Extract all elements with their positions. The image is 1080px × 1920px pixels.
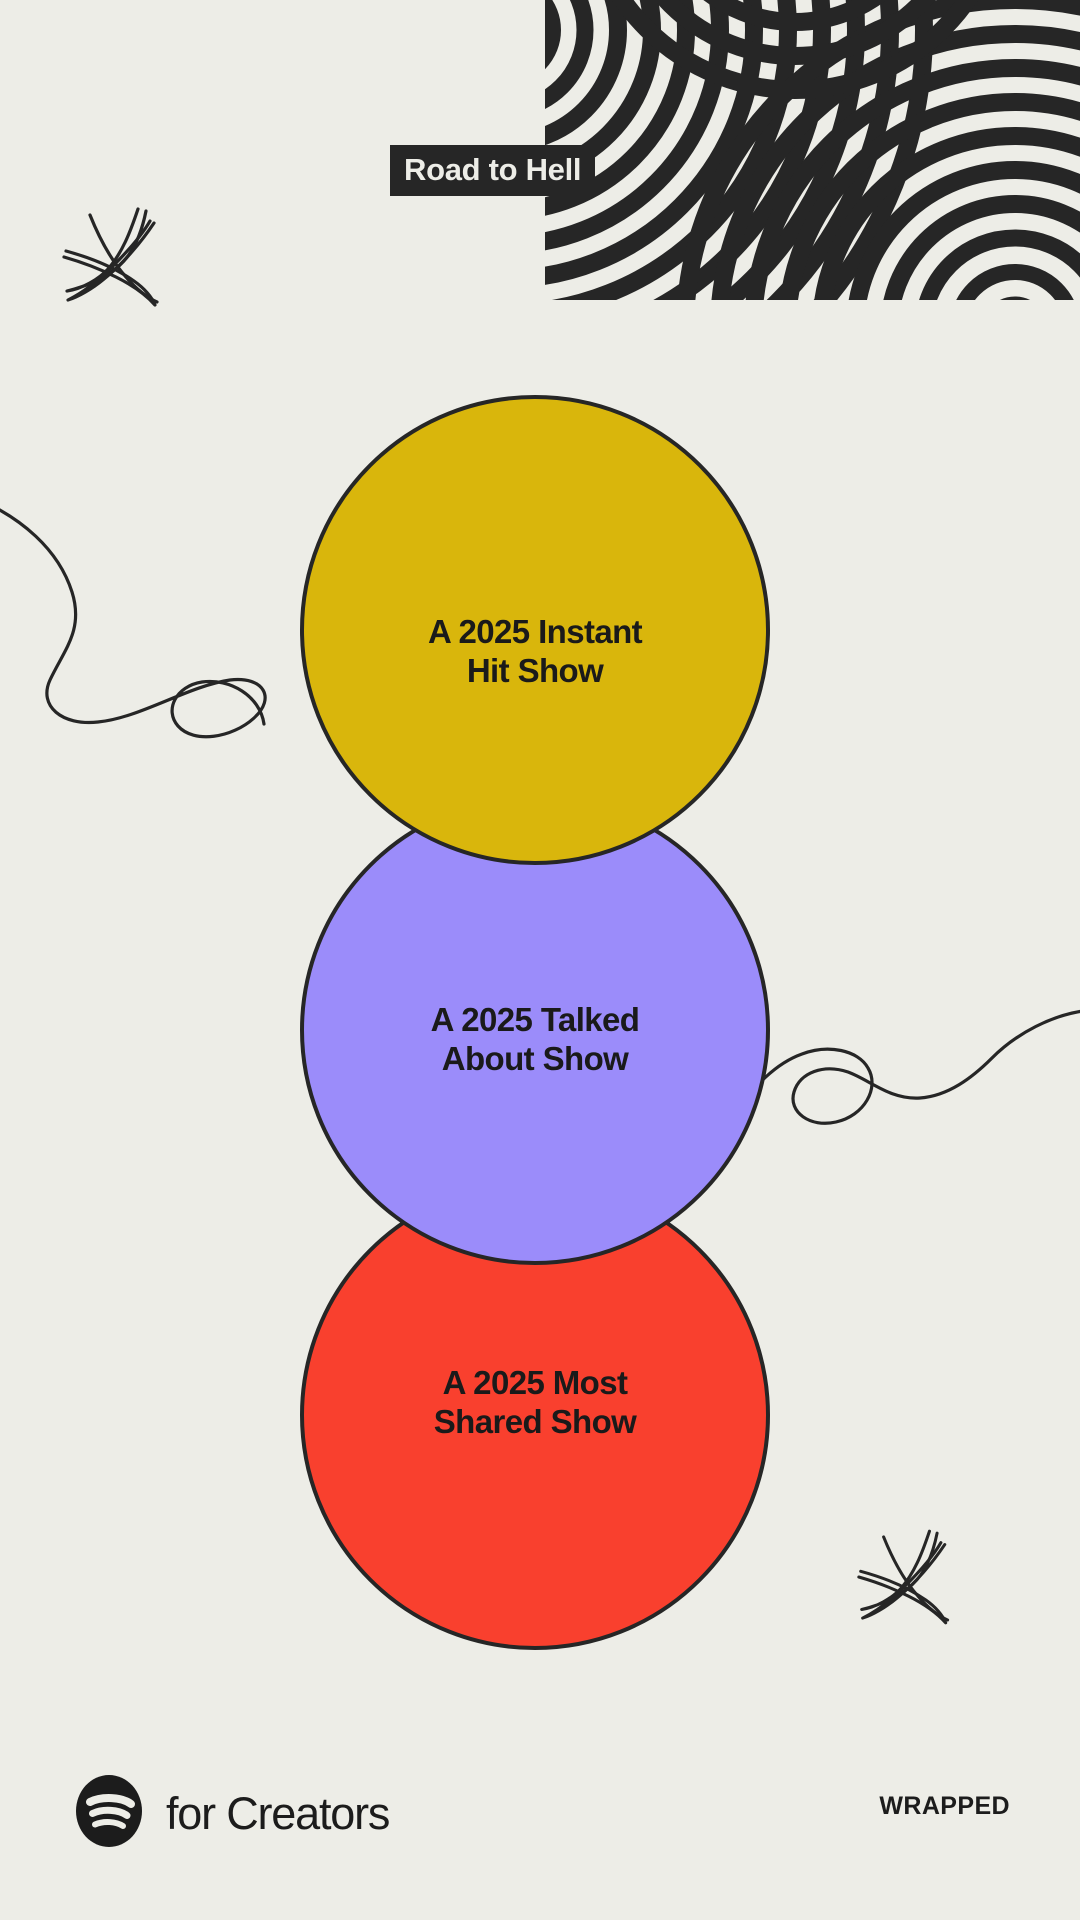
footer: for Creators WRAPPED: [0, 1720, 1080, 1920]
spotify-for-creators-brand: for Creators: [70, 1772, 389, 1855]
badge-circle-instant-hit: A 2025 Instant Hit Show: [300, 395, 770, 865]
show-title: Road to Hell: [404, 154, 581, 185]
badge-circle-talked-about: A 2025 Talked About Show: [300, 795, 770, 1265]
campaign-label: WRAPPED: [879, 1792, 1010, 1821]
badge-label: A 2025 Instant Hit Show: [394, 613, 676, 691]
badge-label: A 2025 Talked About Show: [397, 1001, 674, 1079]
brand-name: for Creators: [166, 1788, 389, 1840]
badge-label: A 2025 Most Shared Show: [400, 1364, 670, 1442]
badge-circle-stack: A 2025 Most Shared Show A 2025 Talked Ab…: [0, 0, 1080, 1920]
poster-canvas: Road to Hell: [0, 0, 1080, 1920]
show-title-band: Road to Hell: [390, 145, 595, 196]
spotify-logo-icon: [70, 1772, 148, 1855]
